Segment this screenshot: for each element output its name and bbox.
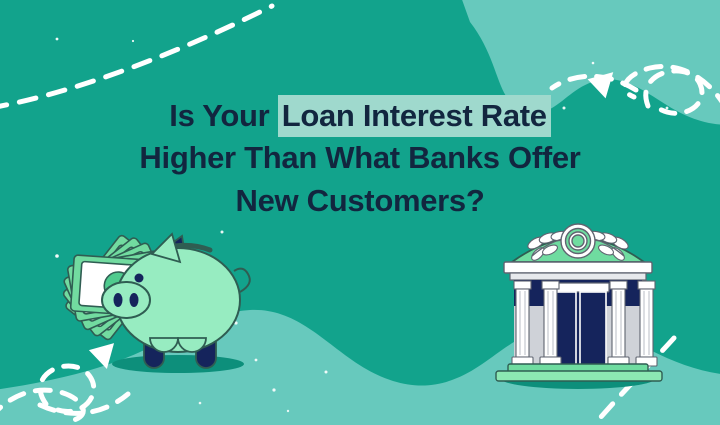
- medallion: [561, 224, 595, 258]
- ground-shadow: [112, 355, 244, 373]
- piggy-eye: [135, 274, 144, 283]
- banner-artwork: [0, 0, 720, 425]
- entablature-band: [510, 273, 646, 280]
- promo-banner: Is Your Loan Interest Rate Higher Than W…: [0, 0, 720, 425]
- base-platform: [496, 371, 662, 381]
- entablature-top: [504, 262, 652, 273]
- piggy-snout: [102, 282, 150, 318]
